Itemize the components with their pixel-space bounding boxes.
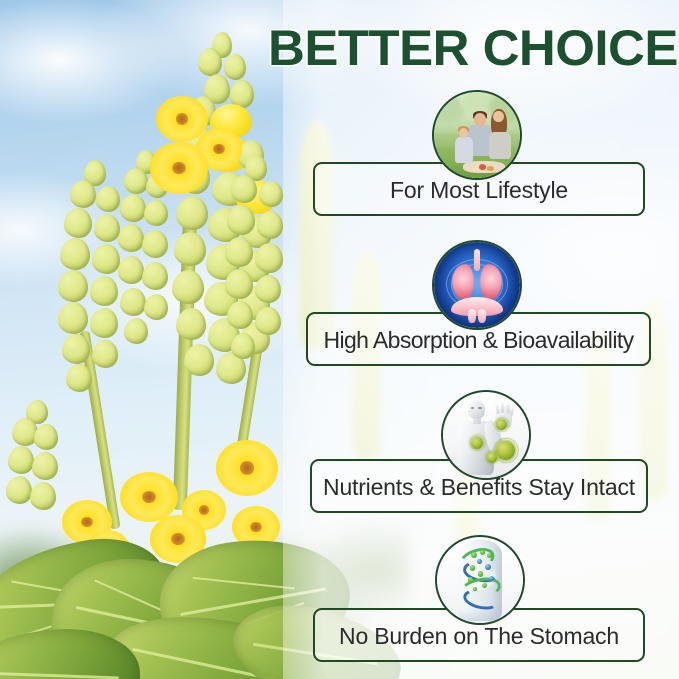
- stomach-digestion-swirl-icon: [435, 535, 525, 625]
- mullein-flower: [216, 440, 278, 496]
- family-picnic-photo-icon: [432, 90, 522, 180]
- virus-particle: [487, 452, 497, 462]
- product-feature-poster: BETTER CHOICE: [0, 0, 679, 679]
- page-title: BETTER CHOICE: [268, 22, 679, 74]
- virus-particle: [471, 437, 483, 449]
- mullein-flower: [150, 142, 208, 194]
- flower-spike-far-left: [0, 400, 70, 550]
- human-figure-blocking-virus-icon: [441, 390, 531, 480]
- virus-particle: [496, 419, 507, 430]
- mullein-flower: [120, 472, 178, 522]
- lungs-anatomy-icon: [432, 240, 522, 330]
